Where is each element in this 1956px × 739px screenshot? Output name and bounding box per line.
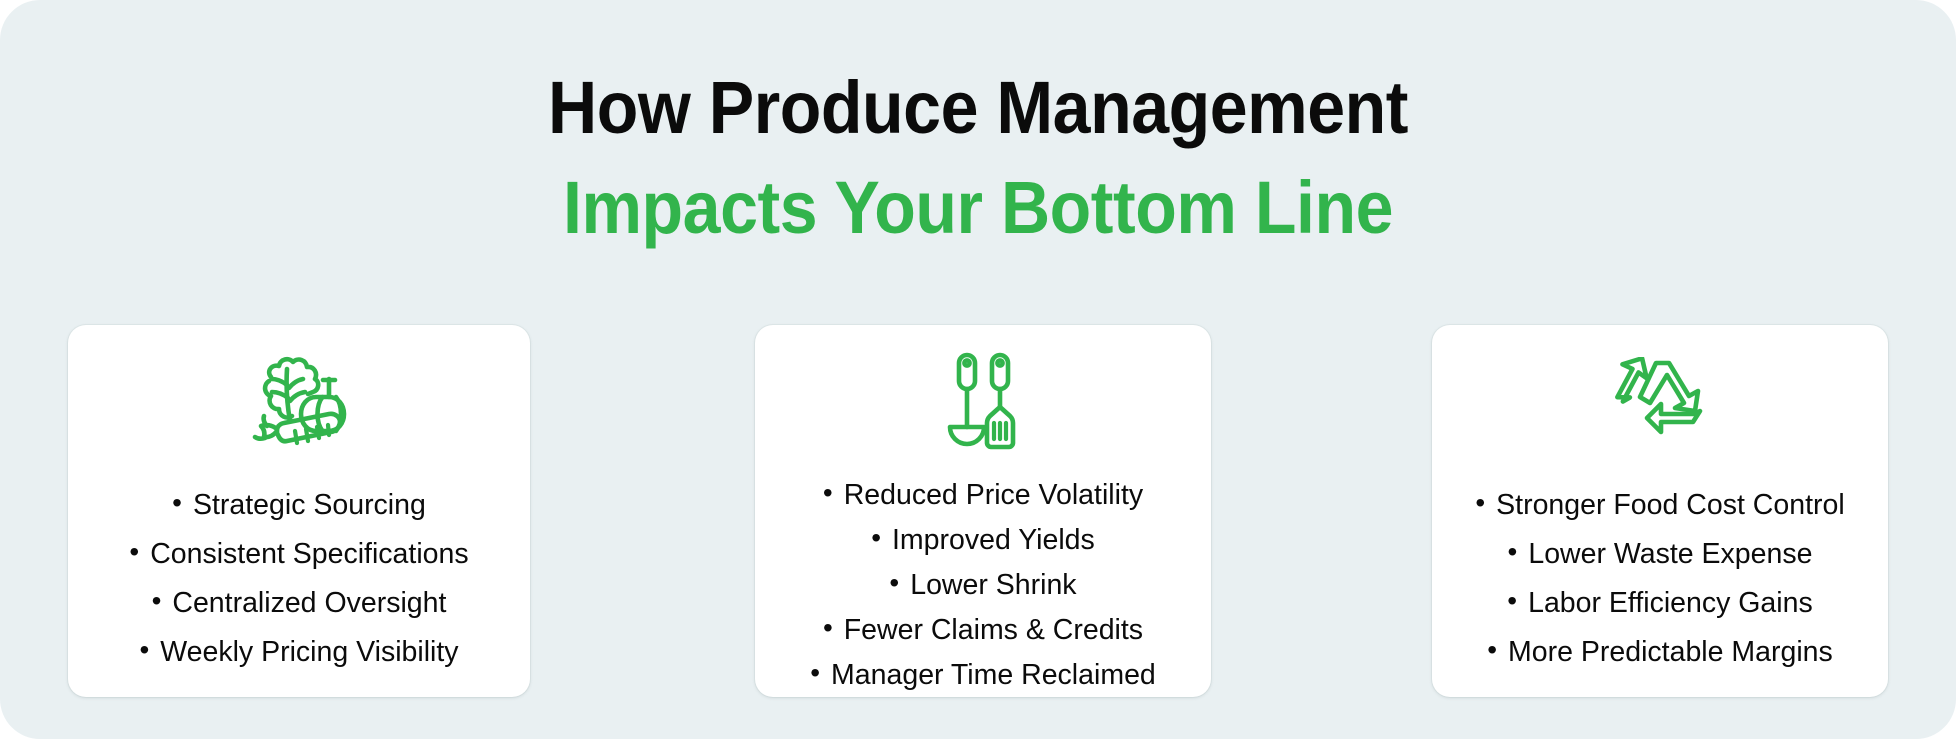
kitchen-utensils-icon xyxy=(924,351,1042,451)
list-item-label: Stronger Food Cost Control xyxy=(1496,489,1845,521)
vegetables-icon xyxy=(240,351,358,459)
bullet-icon: • xyxy=(823,614,833,642)
title-line-accent: Impacts Your Bottom Line xyxy=(78,158,1878,258)
list-item-label: Strategic Sourcing xyxy=(193,489,426,521)
list-item-label: Lower Waste Expense xyxy=(1528,538,1812,570)
card-1-list: •Strategic Sourcing •Consistent Specific… xyxy=(68,481,530,677)
list-item: •Labor Efficiency Gains xyxy=(1442,579,1878,628)
list-item-label: Improved Yields xyxy=(892,524,1095,556)
card-3-list: •Stronger Food Cost Control •Lower Waste… xyxy=(1432,481,1888,677)
list-item: •Consistent Specifications xyxy=(78,530,520,579)
list-item: •Fewer Claims & Credits xyxy=(765,608,1201,653)
bullet-icon: • xyxy=(152,587,162,615)
list-item: •Strategic Sourcing xyxy=(78,481,520,530)
bullet-icon: • xyxy=(1475,489,1485,517)
bullet-icon: • xyxy=(1507,587,1517,615)
list-item-label: Manager Time Reclaimed xyxy=(831,659,1156,691)
list-item: •Reduced Price Volatility xyxy=(765,473,1201,518)
list-item-label: Labor Efficiency Gains xyxy=(1528,587,1813,619)
list-item: •Lower Waste Expense xyxy=(1442,530,1878,579)
cards-row: •Strategic Sourcing •Consistent Specific… xyxy=(68,325,1888,697)
list-item-label: More Predictable Margins xyxy=(1508,636,1833,668)
infographic-panel: How Produce Management Impacts Your Bott… xyxy=(0,0,1956,739)
recycling-icon xyxy=(1601,351,1719,459)
list-item-label: Consistent Specifications xyxy=(150,538,468,570)
card-operational-outcomes: •Reduced Price Volatility •Improved Yiel… xyxy=(755,325,1211,697)
list-item: •Weekly Pricing Visibility xyxy=(78,628,520,677)
list-item-label: Weekly Pricing Visibility xyxy=(160,636,458,668)
card-produce-management-practices: •Strategic Sourcing •Consistent Specific… xyxy=(68,325,530,697)
bullet-icon: • xyxy=(1508,538,1518,566)
card-financial-impact: •Stronger Food Cost Control •Lower Waste… xyxy=(1432,325,1888,697)
bullet-icon: • xyxy=(172,489,182,517)
list-item: •Improved Yields xyxy=(765,518,1201,563)
list-item-label: Lower Shrink xyxy=(910,569,1076,601)
bullet-icon: • xyxy=(1487,636,1497,664)
bullet-icon: • xyxy=(889,569,899,597)
list-item: •Centralized Oversight xyxy=(78,579,520,628)
list-item: •Lower Shrink xyxy=(765,563,1201,608)
list-item: •More Predictable Margins xyxy=(1442,628,1878,677)
list-item-label: Centralized Oversight xyxy=(172,587,446,619)
list-item-label: Fewer Claims & Credits xyxy=(844,614,1143,646)
title-line-primary: How Produce Management xyxy=(78,58,1878,158)
card-2-list: •Reduced Price Volatility •Improved Yiel… xyxy=(755,473,1211,698)
list-item-label: Reduced Price Volatility xyxy=(844,479,1143,511)
bullet-icon: • xyxy=(810,659,820,687)
list-item: •Stronger Food Cost Control xyxy=(1442,481,1878,530)
page-title: How Produce Management Impacts Your Bott… xyxy=(0,58,1956,258)
bullet-icon: • xyxy=(871,524,881,552)
bullet-icon: • xyxy=(129,538,139,566)
list-item: •Manager Time Reclaimed xyxy=(765,653,1201,698)
bullet-icon: • xyxy=(823,479,833,507)
bullet-icon: • xyxy=(139,636,149,664)
